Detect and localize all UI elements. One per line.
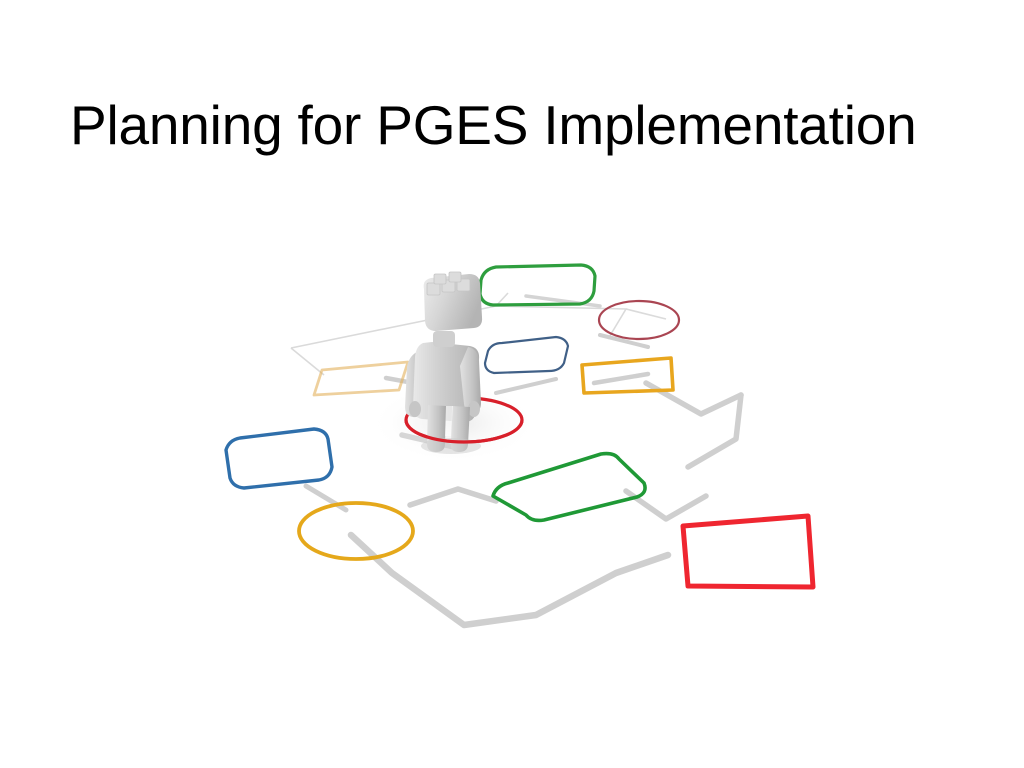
node-blue-left[interactable]: [226, 429, 332, 488]
node-red-bottom[interactable]: [683, 516, 813, 587]
connector-gold-right-zigzag: [646, 383, 741, 414]
node-red-bottom-outline: [683, 516, 813, 587]
figure-left-hand: [409, 401, 421, 417]
connector-center-to-navy: [496, 379, 556, 393]
node-maroon-ellipse[interactable]: [599, 301, 679, 339]
flowchart-illustration: [196, 243, 846, 643]
node-blue-left-outline: [226, 429, 332, 488]
slide-canvas: Planning for PGES Implementation: [0, 0, 1024, 768]
figure-neck: [433, 331, 455, 347]
node-green-mid[interactable]: [493, 454, 645, 521]
node-green-mid-outline: [493, 454, 645, 521]
connector-gold-ellipse-to-green-mid: [410, 489, 496, 505]
flowchart-svg: [196, 243, 846, 643]
node-gold-ellipse-outline: [299, 503, 413, 559]
node-maroon-ellipse-outline: [599, 301, 679, 339]
node-gold-ellipse[interactable]: [299, 503, 413, 559]
connector-center-right-branch: [594, 374, 648, 383]
plane-edge-top-right: [626, 309, 666, 319]
plane-edge-left: [291, 348, 324, 375]
node-navy-quad[interactable]: [485, 337, 568, 373]
page-title: Planning for PGES Implementation: [70, 95, 970, 156]
node-navy-quad-outline: [485, 337, 568, 373]
connector-lines: [306, 296, 741, 625]
